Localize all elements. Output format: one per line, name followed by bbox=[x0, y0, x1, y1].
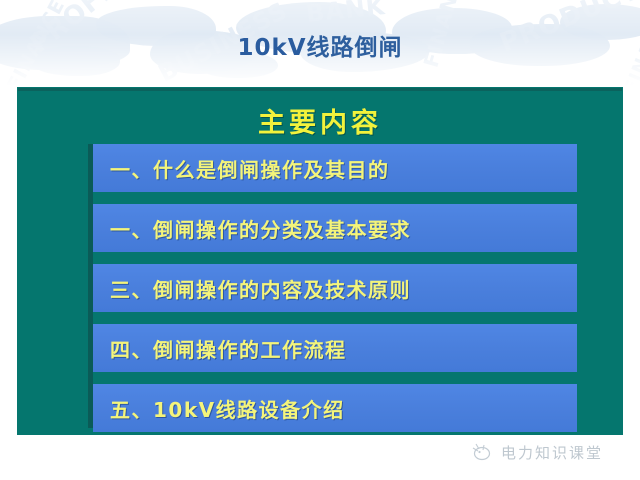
list-item-label: 三、倒闸操作的内容及技术原则 bbox=[93, 274, 411, 303]
list-item-label: 一、什么是倒闸操作及其目的 bbox=[93, 154, 390, 183]
slide-canvas: PROFIT FINANCE BUSINESS BANK FINANCE PRO… bbox=[0, 0, 640, 480]
slide-title-voltage: 10kV bbox=[237, 35, 306, 61]
footer-watermark-text: 电力知识课堂 bbox=[501, 442, 603, 463]
slide-title-text: 线路倒闸 bbox=[307, 35, 403, 61]
slide-title: 10kV线路倒闸 bbox=[0, 28, 640, 62]
list-item[interactable]: 五、10kV线路设备介绍 bbox=[93, 384, 577, 432]
list-item[interactable]: 一、什么是倒闸操作及其目的 bbox=[93, 144, 577, 192]
list-item-label: 五、10kV线路设备介绍 bbox=[93, 394, 345, 423]
list-item[interactable]: 四、倒闸操作的工作流程 bbox=[93, 324, 577, 372]
list-item-label: 一、倒闸操作的分类及基本要求 bbox=[93, 214, 411, 243]
circle-face-logo-icon bbox=[470, 441, 494, 463]
content-panel: 主要内容 一、什么是倒闸操作及其目的 一、倒闸操作的分类及基本要求 三、倒闸操作… bbox=[18, 88, 622, 434]
header-banner: PROFIT FINANCE BUSINESS BANK FINANCE PRO… bbox=[0, 0, 640, 86]
panel-top-edge bbox=[18, 88, 622, 91]
contents-list: 一、什么是倒闸操作及其目的 一、倒闸操作的分类及基本要求 三、倒闸操作的内容及技… bbox=[93, 144, 577, 432]
list-item-label: 四、倒闸操作的工作流程 bbox=[93, 334, 347, 363]
list-item[interactable]: 三、倒闸操作的内容及技术原则 bbox=[93, 264, 577, 312]
footer-watermark: 电力知识课堂 bbox=[470, 441, 603, 463]
panel-heading: 主要内容 bbox=[18, 101, 622, 140]
list-item[interactable]: 一、倒闸操作的分类及基本要求 bbox=[93, 204, 577, 252]
